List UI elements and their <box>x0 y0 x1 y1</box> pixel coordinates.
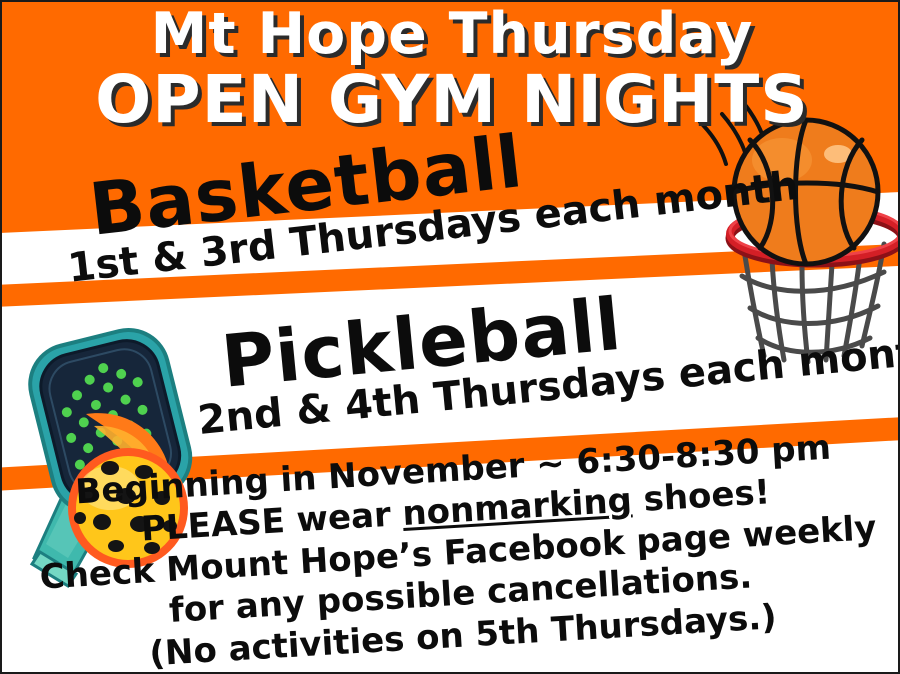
basketball-hoop-icon <box>720 120 900 365</box>
detail-shoes-suffix: shoes! <box>631 473 772 521</box>
flyer-poster: Mt Hope Thursday OPEN GYM NIGHTS <box>0 0 900 674</box>
